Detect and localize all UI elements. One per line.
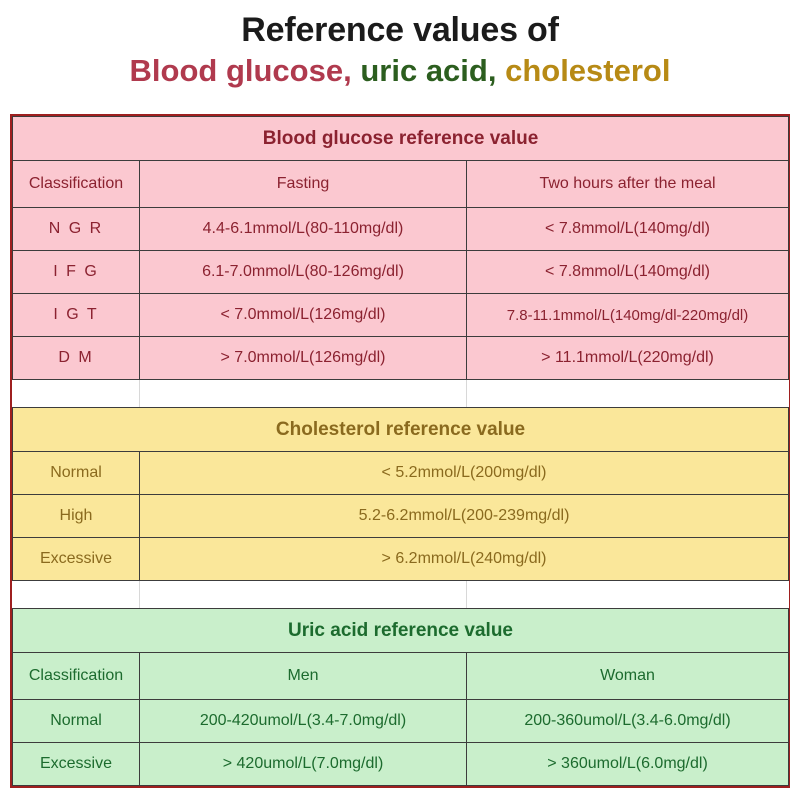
table-row: I G T < 7.0mmol/L(126mg/dl) 7.8-11.1mmol… xyxy=(13,294,789,337)
cell-classification: Excessive xyxy=(13,743,140,786)
cell-after-meal: 7.8-11.1mmol/L(140mg/dl-220mg/dl) xyxy=(467,294,789,337)
section-banner-blood-glucose: Blood glucose reference value xyxy=(13,117,789,161)
reference-tables-frame: Blood glucose reference value Classifica… xyxy=(10,114,790,788)
cell-fasting: > 7.0mmol/L(126mg/dl) xyxy=(140,337,467,380)
spacer-cell xyxy=(467,380,789,408)
title-comma-1: , xyxy=(343,53,352,88)
section-spacer xyxy=(13,380,789,408)
spacer-cell xyxy=(13,581,140,609)
banner-label-blood-glucose: Blood glucose reference value xyxy=(13,117,789,161)
table-row: N G R 4.4-6.1mmol/L(80-110mg/dl) < 7.8mm… xyxy=(13,208,789,251)
spacer-cell xyxy=(467,581,789,609)
column-header-fasting: Fasting xyxy=(140,161,467,208)
table-row: Normal < 5.2mmol/L(200mg/dl) xyxy=(13,452,789,495)
banner-label-uric-acid: Uric acid reference value xyxy=(13,609,789,653)
cell-men: 200-420umol/L(3.4-7.0mg/dl) xyxy=(140,700,467,743)
cell-value: > 6.2mmol/L(240mg/dl) xyxy=(140,538,789,581)
section-banner-cholesterol: Cholesterol reference value xyxy=(13,408,789,452)
cell-classification: Normal xyxy=(13,700,140,743)
page-title-line2: Blood glucose, uric acid, cholesterol xyxy=(0,52,800,90)
table-row: Normal 200-420umol/L(3.4-7.0mg/dl) 200-3… xyxy=(13,700,789,743)
cell-fasting: 4.4-6.1mmol/L(80-110mg/dl) xyxy=(140,208,467,251)
cell-after-meal: < 7.8mmol/L(140mg/dl) xyxy=(467,251,789,294)
cell-classification: I G T xyxy=(13,294,140,337)
table-header-row-uric-acid: Classification Men Woman xyxy=(13,653,789,700)
cell-classification: N G R xyxy=(13,208,140,251)
title-part-uric-acid: uric acid xyxy=(352,53,488,88)
cell-value: < 5.2mmol/L(200mg/dl) xyxy=(140,452,789,495)
cell-value: 5.2-6.2mmol/L(200-239mg/dl) xyxy=(140,495,789,538)
cell-after-meal: < 7.8mmol/L(140mg/dl) xyxy=(467,208,789,251)
table-row: I F G 6.1-7.0mmol/L(80-126mg/dl) < 7.8mm… xyxy=(13,251,789,294)
cell-woman: > 360umol/L(6.0mg/dl) xyxy=(467,743,789,786)
table-row: D M > 7.0mmol/L(126mg/dl) > 11.1mmol/L(2… xyxy=(13,337,789,380)
table-row: High 5.2-6.2mmol/L(200-239mg/dl) xyxy=(13,495,789,538)
column-header-men: Men xyxy=(140,653,467,700)
cell-men: > 420umol/L(7.0mg/dl) xyxy=(140,743,467,786)
reference-values-page: Reference values of Blood glucose, uric … xyxy=(0,0,800,800)
spacer-cell xyxy=(140,380,467,408)
page-title-block: Reference values of Blood glucose, uric … xyxy=(0,0,800,91)
cell-woman: 200-360umol/L(3.4-6.0mg/dl) xyxy=(467,700,789,743)
table-row: Excessive > 6.2mmol/L(240mg/dl) xyxy=(13,538,789,581)
cell-classification: I F G xyxy=(13,251,140,294)
section-spacer xyxy=(13,581,789,609)
reference-tables: Blood glucose reference value Classifica… xyxy=(12,116,789,786)
title-part-blood-glucose: Blood glucose xyxy=(130,53,344,88)
column-header-classification: Classification xyxy=(13,161,140,208)
cell-classification: Excessive xyxy=(13,538,140,581)
cell-classification: Normal xyxy=(13,452,140,495)
column-header-classification: Classification xyxy=(13,653,140,700)
banner-label-cholesterol: Cholesterol reference value xyxy=(13,408,789,452)
cell-fasting: 6.1-7.0mmol/L(80-126mg/dl) xyxy=(140,251,467,294)
section-banner-uric-acid: Uric acid reference value xyxy=(13,609,789,653)
cell-classification: High xyxy=(13,495,140,538)
spacer-cell xyxy=(140,581,467,609)
table-header-row-blood-glucose: Classification Fasting Two hours after t… xyxy=(13,161,789,208)
page-title-line1: Reference values of xyxy=(0,10,800,51)
cell-after-meal: > 11.1mmol/L(220mg/dl) xyxy=(467,337,789,380)
cell-classification: D M xyxy=(13,337,140,380)
spacer-cell xyxy=(13,380,140,408)
column-header-woman: Woman xyxy=(467,653,789,700)
column-header-two-hours-after-meal: Two hours after the meal xyxy=(467,161,789,208)
cell-fasting: < 7.0mmol/L(126mg/dl) xyxy=(140,294,467,337)
title-part-cholesterol: cholesterol xyxy=(496,53,670,88)
table-row: Excessive > 420umol/L(7.0mg/dl) > 360umo… xyxy=(13,743,789,786)
